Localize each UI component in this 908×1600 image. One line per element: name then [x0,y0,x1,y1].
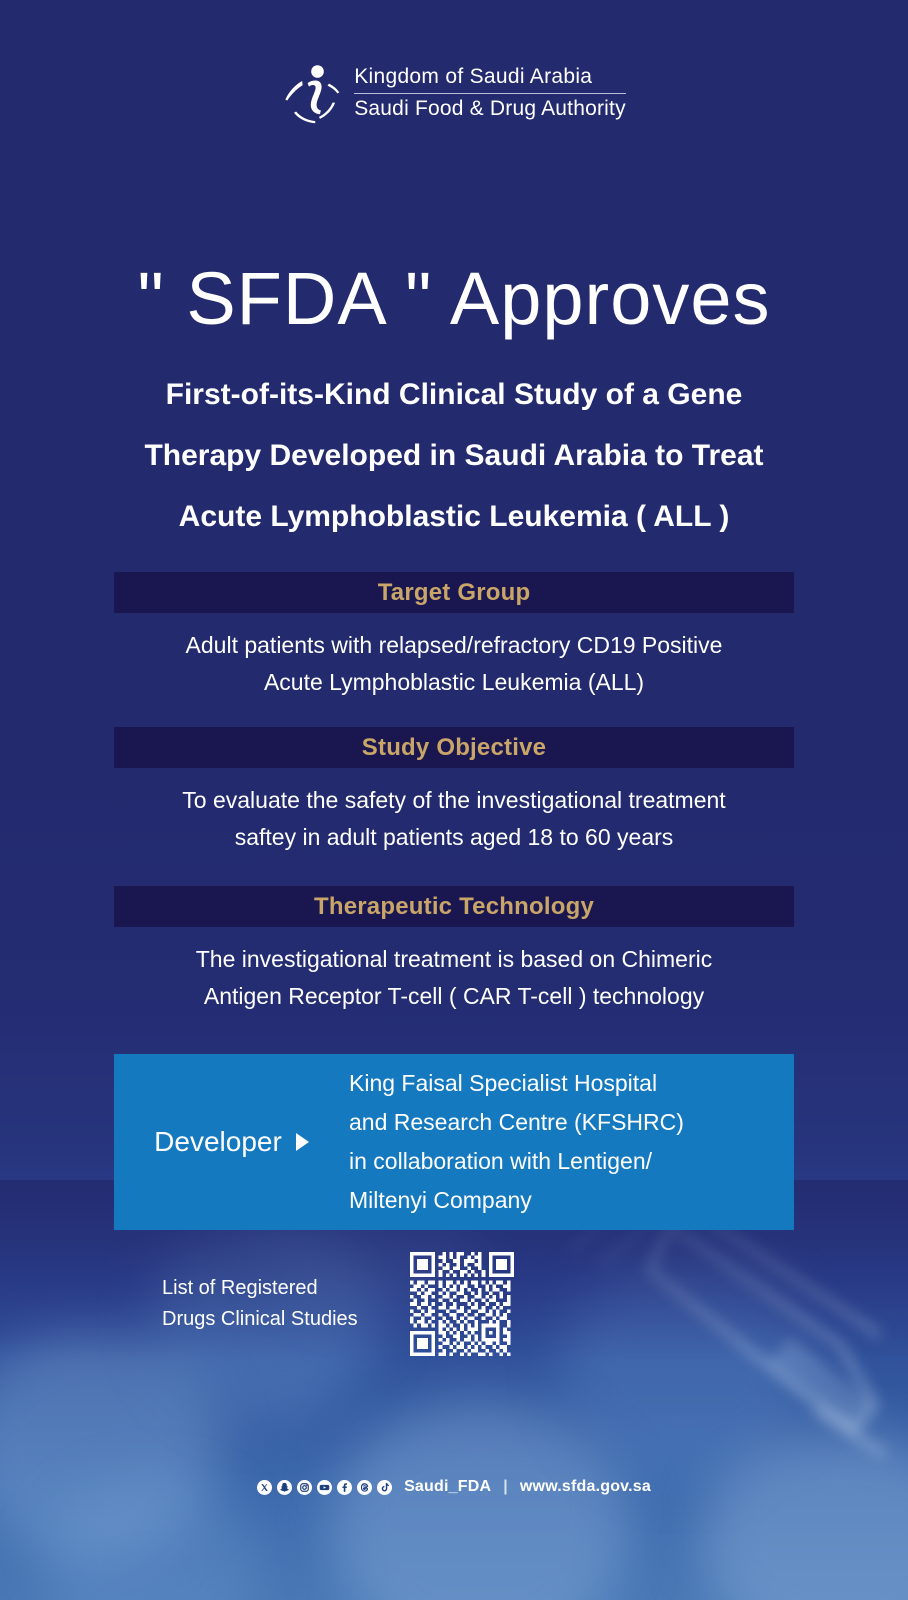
bokeh-blob [700,1430,908,1600]
bokeh-blob [330,1400,630,1600]
section-body: Adult patients with relapsed/refractory … [114,627,794,701]
instagram-icon[interactable] [297,1480,312,1495]
section-therapeutic-technology: Therapeutic Technology The investigation… [114,886,794,1015]
section-heading-label: Target Group [378,579,531,607]
footer-bar: Saudi_FDA | www.sfda.gov.sa [0,1478,908,1496]
qr-caption-line: Drugs Clinical Studies [162,1304,358,1335]
qr-section: List of Registered Drugs Clinical Studie… [162,1252,582,1356]
section-target-group: Target Group Adult patients with relapse… [114,572,794,701]
page-title: " SFDA " Approves [0,262,908,336]
section-study-objective: Study Objective To evaluate the safety o… [114,727,794,856]
page-subtitle: First-of-its-Kind Clinical Study of a Ge… [54,364,854,547]
threads-icon[interactable] [357,1480,372,1495]
subtitle-line: Acute Lymphoblastic Leukemia ( ALL ) [54,486,854,547]
section-heading-label: Study Objective [362,734,546,762]
section-body: To evaluate the safety of the investigat… [114,782,794,856]
qr-caption: List of Registered Drugs Clinical Studie… [162,1273,358,1335]
developer-label: Developer [154,1126,282,1158]
developer-value-line: King Faisal Specialist Hospital [349,1064,684,1103]
footer-separator: | [503,1478,508,1496]
sfda-logo: Kingdom of Saudi Arabia Saudi Food & Dru… [0,62,908,124]
sfda-logo-text: Kingdom of Saudi Arabia Saudi Food & Dru… [354,64,626,122]
facebook-icon[interactable] [337,1480,352,1495]
youtube-icon[interactable] [317,1480,332,1495]
bokeh-blob [0,1330,220,1560]
logo-line-authority: Saudi Food & Drug Authority [354,96,626,122]
bokeh-blob [40,1480,260,1600]
bokeh-blob [560,1250,810,1480]
logo-divider [354,93,626,94]
section-body-line: The investigational treatment is based o… [114,941,794,978]
section-heading-bar: Therapeutic Technology [114,886,794,927]
section-heading-bar: Target Group [114,572,794,613]
developer-card: Developer King Faisal Specialist Hospita… [114,1054,794,1230]
section-body-line: To evaluate the safety of the investigat… [114,782,794,819]
section-body-line: Antigen Receptor T-cell ( CAR T-cell ) t… [114,978,794,1015]
section-body-line: saftey in adult patients aged 18 to 60 y… [114,819,794,856]
poster-canvas: Kingdom of Saudi Arabia Saudi Food & Dru… [0,0,908,1600]
developer-label-group: Developer [114,1126,349,1158]
developer-value: King Faisal Specialist Hospital and Rese… [349,1064,702,1220]
section-body: The investigational treatment is based o… [114,941,794,1015]
triangle-right-icon [296,1133,309,1151]
subtitle-line: Therapy Developed in Saudi Arabia to Tre… [54,425,854,486]
qr-caption-line: List of Registered [162,1273,358,1304]
pipette-illustration [640,1215,908,1465]
footer-website[interactable]: www.sfda.gov.sa [520,1478,651,1496]
subtitle-line: First-of-its-Kind Clinical Study of a Ge… [54,364,854,425]
tiktok-icon[interactable] [377,1480,392,1495]
developer-value-line: in collaboration with Lentigen/ [349,1142,684,1181]
snapchat-icon[interactable] [277,1480,292,1495]
section-heading-label: Therapeutic Technology [314,893,594,921]
logo-line-kingdom: Kingdom of Saudi Arabia [354,64,626,90]
developer-value-line: Miltenyi Company [349,1181,684,1220]
qr-code-icon[interactable] [410,1252,514,1356]
footer-handle: Saudi_FDA [404,1478,491,1496]
section-body-line: Adult patients with relapsed/refractory … [114,627,794,664]
sfda-figure-logo-icon [282,62,340,124]
section-body-line: Acute Lymphoblastic Leukemia (ALL) [114,664,794,701]
x-twitter-icon[interactable] [257,1480,272,1495]
developer-value-line: and Research Centre (KFSHRC) [349,1103,684,1142]
section-heading-bar: Study Objective [114,727,794,768]
